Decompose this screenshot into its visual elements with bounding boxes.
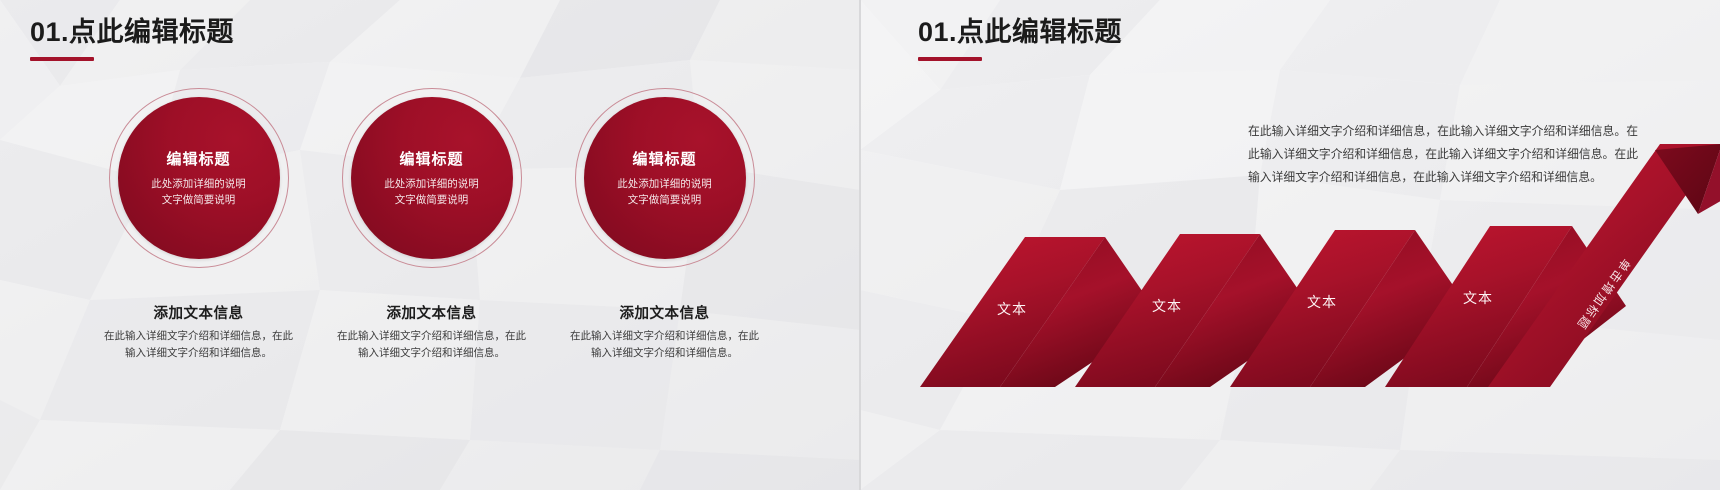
slide-right: 01.点此编辑标题 在此输入详细文字介绍和详细信息，在此输入详细文字介绍和详细信… (860, 0, 1720, 490)
slide-left: 01.点此编辑标题 编辑标题 此处添加详细的说明 文字做简要说明 添加文本信息 … (0, 0, 860, 490)
page-title: 01.点此编辑标题 (30, 16, 234, 48)
slide-right-header: 01.点此编辑标题 (918, 16, 1122, 61)
column-body-2: 在此输入详细文字介绍和详细信息，在此输入详细文字介绍和详细信息。 (334, 328, 530, 362)
circle-desc-line-3a: 此处添加详细的说明 (598, 176, 732, 192)
page-title-right: 01.点此编辑标题 (918, 16, 1122, 48)
arrow-diagram: 文本 文本 文本 文本 单击增加标题 (860, 172, 1720, 402)
chevron-label-4: 文本 (1463, 290, 1493, 306)
column-heading-1: 添加文本信息 (154, 302, 244, 323)
column-body-3: 在此输入详细文字介绍和详细信息，在此输入详细文字介绍和详细信息。 (567, 328, 763, 362)
circle-ring-1[interactable]: 编辑标题 此处添加详细的说明 文字做简要说明 (109, 88, 289, 268)
slide-divider (859, 0, 861, 490)
title-underline-right (918, 57, 982, 61)
circle-title-3: 编辑标题 (632, 148, 696, 169)
circle-desc-line-1a: 此处添加详细的说明 (132, 176, 266, 192)
circle-desc-line-2a: 此处添加详细的说明 (365, 176, 499, 192)
title-underline (30, 57, 94, 61)
circle-title-2: 编辑标题 (399, 148, 463, 169)
circle-ring-2[interactable]: 编辑标题 此处添加详细的说明 文字做简要说明 (342, 88, 522, 268)
circle-column-2[interactable]: 编辑标题 此处添加详细的说明 文字做简要说明 添加文本信息 在此输入详细文字介绍… (315, 88, 548, 362)
circle-desc-line-3b: 文字做简要说明 (598, 192, 732, 208)
circle-columns: 编辑标题 此处添加详细的说明 文字做简要说明 添加文本信息 在此输入详细文字介绍… (82, 88, 782, 362)
column-heading-3: 添加文本信息 (620, 302, 710, 323)
column-heading-2: 添加文本信息 (387, 302, 477, 323)
circle-desc-line-2b: 文字做简要说明 (365, 192, 499, 208)
circle-title-1: 编辑标题 (166, 148, 230, 169)
circle-desc-3: 此处添加详细的说明 文字做简要说明 (598, 176, 732, 209)
chevron-label-3: 文本 (1307, 294, 1337, 310)
circle-ring-3[interactable]: 编辑标题 此处添加详细的说明 文字做简要说明 (575, 88, 755, 268)
circle-disc-2[interactable]: 编辑标题 此处添加详细的说明 文字做简要说明 (351, 97, 513, 259)
circle-desc-1: 此处添加详细的说明 文字做简要说明 (132, 176, 266, 209)
circle-disc-3[interactable]: 编辑标题 此处添加详细的说明 文字做简要说明 (584, 97, 746, 259)
circle-disc-1[interactable]: 编辑标题 此处添加详细的说明 文字做简要说明 (118, 97, 280, 259)
slide-deck: 01.点此编辑标题 编辑标题 此处添加详细的说明 文字做简要说明 添加文本信息 … (0, 0, 1720, 490)
circle-desc-2: 此处添加详细的说明 文字做简要说明 (365, 176, 499, 209)
circle-desc-line-1b: 文字做简要说明 (132, 192, 266, 208)
chevron-label-1: 文本 (997, 301, 1027, 317)
slide-left-header: 01.点此编辑标题 (30, 16, 234, 61)
circle-column-1[interactable]: 编辑标题 此处添加详细的说明 文字做简要说明 添加文本信息 在此输入详细文字介绍… (82, 88, 315, 362)
column-body-1: 在此输入详细文字介绍和详细信息，在此输入详细文字介绍和详细信息。 (101, 328, 297, 362)
arrow-svg: 文本 文本 文本 文本 单击增加标题 (860, 172, 1720, 402)
circle-column-3[interactable]: 编辑标题 此处添加详细的说明 文字做简要说明 添加文本信息 在此输入详细文字介绍… (548, 88, 781, 362)
chevron-label-2: 文本 (1152, 298, 1182, 314)
